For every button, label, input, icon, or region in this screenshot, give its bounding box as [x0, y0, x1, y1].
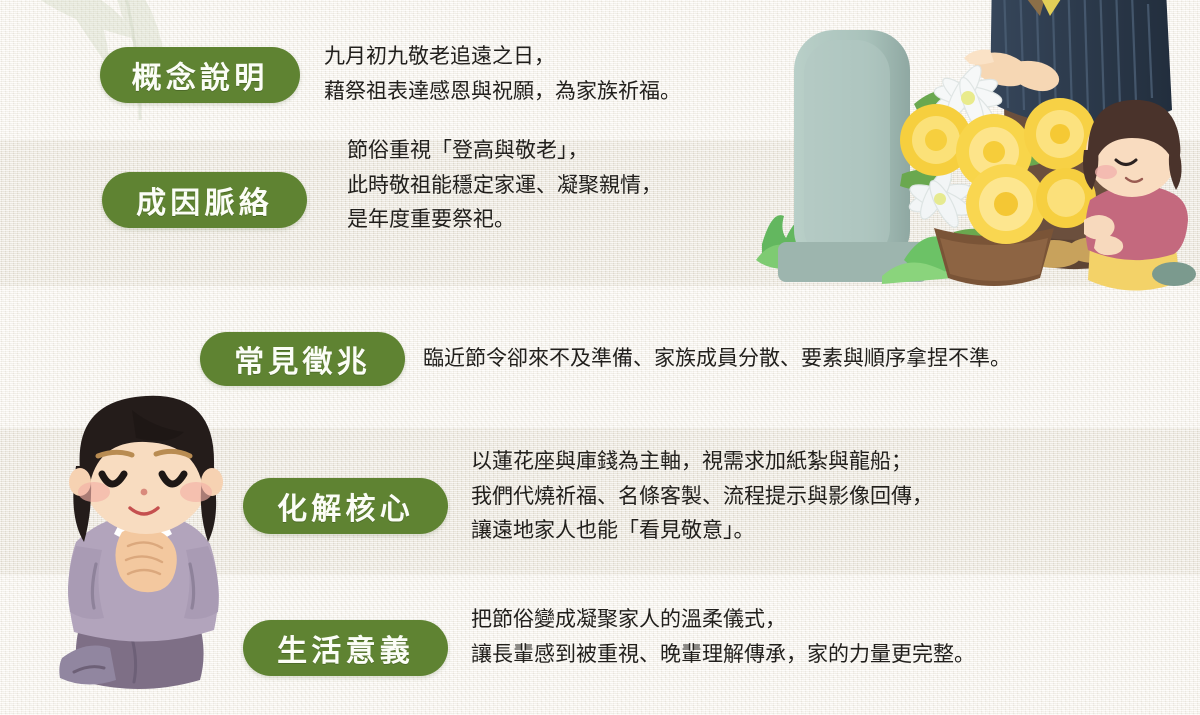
text-line: 臨近節令卻來不及準備、家族成員分散、要素與順序拿捏不準。 [423, 342, 1011, 377]
kneeling-legs [59, 607, 203, 689]
poster-canvas: 概念說明 九月初九敬老追遠之日， 藉祭祖表達感恩與祝願，為家族祈福。 成因脈絡 … [0, 0, 1200, 715]
section-badge-signs[interactable]: 常見徵兆 [200, 332, 405, 386]
white-chrysanthemum [931, 62, 1003, 134]
chrysanthemum-bouquet [900, 62, 1096, 286]
section-badge-solution[interactable]: 化解核心 [243, 478, 448, 534]
text-line: 節俗重視「登高與敬老」， [347, 134, 662, 169]
text-line: 是年度重要祭祀。 [347, 203, 662, 238]
section-text-solution: 以蓮花座與庫錢為主軸，視需求加紙紮與龍船； 我們代燒祈福、名條客製、流程提示與影… [471, 445, 933, 549]
text-line: 藉祭祖表達感恩與祝願，為家族祈福。 [324, 75, 681, 110]
section-row-concept: 概念說明 九月初九敬老追遠之日， 藉祭祖表達感恩與祝願，為家族祈福。 [100, 40, 681, 109]
section-text-signs: 臨近節令卻來不及準備、家族成員分散、要素與順序拿捏不準。 [423, 342, 1011, 377]
tomb-sweeping-illustration [754, 0, 1200, 292]
praying-woman-illustration [36, 386, 250, 706]
jacket [68, 514, 219, 642]
white-chrysanthemum-2 [906, 165, 973, 231]
section-row-solution: 化解核心 以蓮花座與庫錢為主軸，視需求加紙紮與龍船； 我們代燒祈福、名條客製、流… [243, 478, 448, 534]
section-text-origin: 節俗重視「登高與敬老」， 此時敬祖能穩定家運、凝聚親情， 是年度重要祭祀。 [347, 134, 662, 238]
section-row-meaning: 生活意義 把節俗變成凝聚家人的溫柔儀式， 讓長輩感到被重視、晚輩理解傳承，家的力… [243, 620, 448, 676]
grass-icon [756, 215, 832, 269]
text-line: 讓長輩感到被重視、晚輩理解傳承，家的力量更完整。 [471, 638, 975, 673]
section-text-meaning: 把節俗變成凝聚家人的溫柔儀式， 讓長輩感到被重視、晚輩理解傳承，家的力量更完整。 [471, 603, 975, 672]
text-line: 讓遠地家人也能「看見敬意」。 [471, 514, 933, 549]
text-line: 九月初九敬老追遠之日， [324, 40, 681, 75]
gravestone [778, 30, 928, 282]
section-row-signs: 常見徵兆 臨近節令卻來不及準備、家族成員分散、要素與順序拿捏不準。 [200, 332, 1011, 386]
text-line: 此時敬祖能穩定家運、凝聚親情， [347, 169, 662, 204]
section-row-origin: 成因脈絡 節俗重視「登高與敬老」， 此時敬祖能穩定家運、凝聚親情， 是年度重要祭… [102, 172, 307, 228]
kneeling-child [1083, 100, 1196, 291]
grass-front [882, 236, 980, 284]
yellow-chrysanthemum-group [900, 98, 1096, 244]
text-line: 把節俗變成凝聚家人的溫柔儀式， [471, 603, 975, 638]
section-badge-concept[interactable]: 概念說明 [100, 47, 300, 103]
text-line: 以蓮花座與庫錢為主軸，視需求加紙紮與龍船； [471, 445, 933, 480]
section-badge-origin[interactable]: 成因脈絡 [102, 172, 307, 228]
text-line: 我們代燒祈福、名條客製、流程提示與影像回傳， [471, 480, 933, 515]
clasped-hands [115, 526, 176, 592]
section-badge-meaning[interactable]: 生活意義 [243, 620, 448, 676]
adult-figure [964, 0, 1172, 269]
head [69, 396, 223, 542]
section-text-concept: 九月初九敬老追遠之日， 藉祭祖表達感恩與祝願，為家族祈福。 [324, 40, 681, 109]
